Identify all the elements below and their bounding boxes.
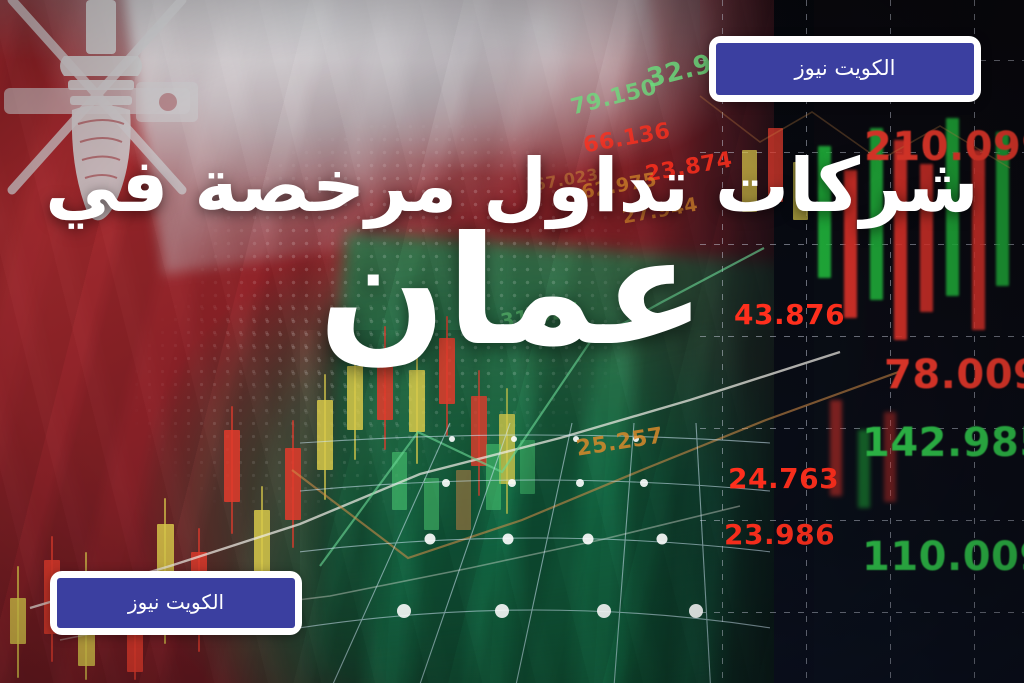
grid-line-v <box>974 0 975 683</box>
grid-line-v <box>806 0 807 683</box>
quote-value: 24.763 <box>728 462 839 495</box>
badge-bottom-left-label: الكويت نيوز <box>57 578 295 628</box>
grid-line-h <box>700 244 1024 245</box>
quote-value: 210.099 <box>864 124 1024 170</box>
quote-value: 43.876 <box>734 298 845 331</box>
quote-value: 23.986 <box>724 518 835 551</box>
perspective-node-grid <box>300 383 770 683</box>
badge-top-right-label: الكويت نيوز <box>716 43 974 95</box>
grid-line-v <box>890 0 891 683</box>
quote-value: 110.009 <box>862 534 1024 580</box>
badge-top-right[interactable]: الكويت نيوز <box>709 36 981 102</box>
ticker-panel <box>774 0 1024 683</box>
quote-value: 78.009 <box>884 352 1024 398</box>
quote-value: 142.985 <box>862 420 1024 466</box>
banner-canvas: 210.099 78.009 142.985 110.009 43.876 24… <box>0 0 1024 683</box>
badge-bottom-left[interactable]: الكويت نيوز <box>50 571 302 635</box>
grid-line-h <box>700 336 1024 337</box>
